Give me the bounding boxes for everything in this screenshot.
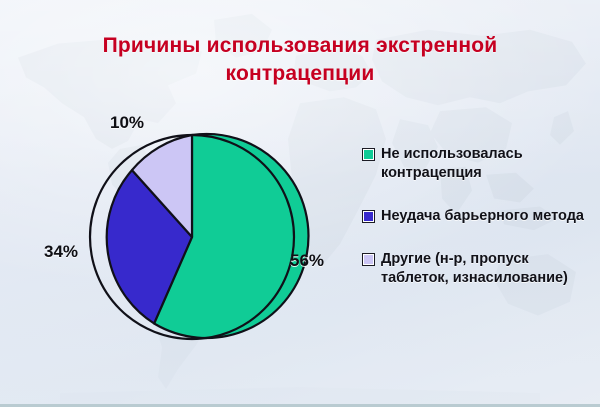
slide-canvas: Причины использования экстренной контрац…: [0, 0, 600, 407]
legend-swatch-lavender-icon: [362, 253, 375, 266]
page-title: Причины использования экстренной контрац…: [0, 32, 600, 88]
legend-swatch-blue-icon: [362, 210, 375, 223]
legend-item-no-contraception: Не использовалась контрацепция: [362, 145, 588, 183]
legend-label-barrier-failure: Неудача барьерного метода: [381, 207, 584, 226]
chart-legend: Не использовалась контрацепция Неудача б…: [362, 145, 588, 288]
legend-label-other: Другие (н-р, пропуск таблеток, изнасилов…: [381, 250, 588, 288]
pie-label-56: 56%: [290, 251, 324, 271]
legend-item-other: Другие (н-р, пропуск таблеток, изнасилов…: [362, 250, 588, 288]
pie-chart: [80, 125, 304, 349]
legend-label-no-contraception: Не использовалась контрацепция: [381, 145, 588, 183]
pie-label-34: 34%: [44, 242, 78, 262]
legend-swatch-green-icon: [362, 148, 375, 161]
legend-item-barrier-failure: Неудача барьерного метода: [362, 207, 588, 226]
pie-label-10: 10%: [110, 113, 144, 133]
